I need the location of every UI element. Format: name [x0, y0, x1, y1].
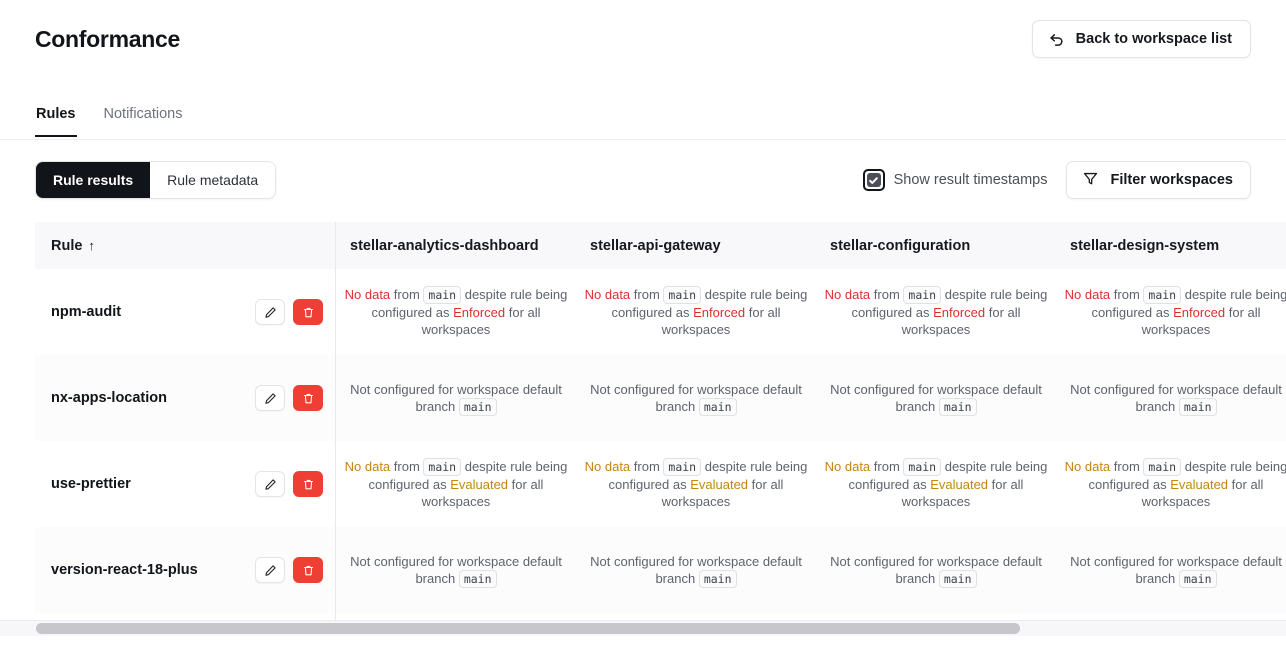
branch-chip: main [1143, 286, 1181, 304]
result-cell: Not configured for workspace default bra… [1056, 527, 1286, 613]
delete-rule-button[interactable] [293, 471, 323, 497]
result-cell-text: No data from main despite rule being con… [344, 286, 568, 338]
result-cell: No data from main despite rule being con… [1056, 441, 1286, 527]
status-badge: Enforced [693, 305, 745, 320]
rule-name: use-prettier [51, 476, 255, 492]
column-header-workspace[interactable]: stellar-api-gateway [576, 222, 816, 269]
filter-workspaces-button[interactable]: Filter workspaces [1066, 161, 1252, 199]
branch-chip: main [423, 458, 461, 476]
workspace-column: stellar-configurationNo data from main d… [816, 222, 1056, 621]
segment-rule-results[interactable]: Rule results [36, 162, 150, 198]
delete-rule-button[interactable] [293, 385, 323, 411]
result-cell: No data from main despite rule being con… [1056, 269, 1286, 355]
edit-rule-button[interactable] [255, 471, 285, 497]
result-cell: Not configured for workspace default bra… [576, 355, 816, 441]
back-arrow-icon [1048, 31, 1065, 48]
row-actions [255, 385, 323, 411]
rule-name: version-react-18-plus [51, 562, 255, 578]
column-header-rule[interactable]: Rule ↑ [35, 222, 335, 269]
back-to-workspace-list-button[interactable]: Back to workspace list [1032, 20, 1251, 58]
result-cell-text: Not configured for workspace default bra… [344, 553, 568, 588]
horizontal-scrollbar-thumb[interactable] [36, 623, 1020, 634]
no-data-label: No data [1065, 459, 1111, 474]
branch-chip: main [663, 286, 701, 304]
branch-chip: main [423, 286, 461, 304]
branch-chip: main [1143, 458, 1181, 476]
filter-funnel-icon [1082, 170, 1099, 191]
filter-button-label: Filter workspaces [1111, 172, 1234, 188]
no-data-label: No data [825, 287, 871, 302]
conformance-page: Conformance Back to workspace list Rules… [0, 0, 1286, 667]
table-row: version-react-18-plus [35, 527, 335, 613]
toolbar-right-group: Show result timestamps Filter workspaces [863, 161, 1251, 199]
result-cell: Not configured for workspace default bra… [1056, 355, 1286, 441]
no-data-label: No data [345, 287, 391, 302]
checkbox-label: Show result timestamps [894, 172, 1048, 188]
row-actions [255, 557, 323, 583]
sort-ascending-icon: ↑ [88, 238, 95, 253]
status-badge: Evaluated [690, 477, 748, 492]
status-badge: Evaluated [450, 477, 508, 492]
footer-spacer [0, 636, 1286, 667]
page-title: Conformance [35, 28, 180, 51]
result-cell: Not configured for workspace default bra… [336, 527, 576, 613]
branch-chip: main [939, 398, 977, 416]
result-cell-text: Not configured for workspace default bra… [824, 381, 1048, 416]
status-badge: Evaluated [930, 477, 988, 492]
rule-name: npm-audit [51, 304, 255, 320]
branch-chip: main [903, 458, 941, 476]
checkbox-focus-ring [863, 169, 885, 191]
result-cell-text: Not configured for workspace default bra… [344, 381, 568, 416]
branch-chip: main [1179, 570, 1217, 588]
result-cell-text: Not configured for workspace default bra… [584, 553, 808, 588]
column-header-workspace[interactable]: stellar-analytics-dashboard [336, 222, 576, 269]
branch-chip: main [903, 286, 941, 304]
result-cell-text: No data from main despite rule being con… [584, 458, 808, 510]
table-row: nx-apps-location [35, 355, 335, 441]
rule-name: nx-apps-location [51, 390, 255, 406]
result-cell-text: No data from main despite rule being con… [1064, 286, 1286, 338]
result-cell: Not configured for workspace default bra… [576, 527, 816, 613]
rule-column: Rule ↑ npm-audit [35, 222, 336, 621]
tab-rules[interactable]: Rules [35, 104, 77, 136]
result-cell: Not configured for workspace default bra… [816, 355, 1056, 441]
tab-bar: Rules Notifications [0, 104, 1286, 140]
edit-rule-button[interactable] [255, 385, 285, 411]
edit-rule-button[interactable] [255, 299, 285, 325]
back-button-label: Back to workspace list [1076, 31, 1232, 47]
result-cell-text: Not configured for workspace default bra… [1064, 381, 1286, 416]
page-header: Conformance Back to workspace list [0, 0, 1286, 78]
checkbox-box-checked [867, 173, 881, 187]
result-cell-text: No data from main despite rule being con… [824, 286, 1048, 338]
branch-chip: main [699, 570, 737, 588]
row-actions [255, 299, 323, 325]
result-cell: No data from main despite rule being con… [336, 269, 576, 355]
branch-chip: main [459, 398, 497, 416]
table-row: use-prettier [35, 441, 335, 527]
status-badge: Enforced [933, 305, 985, 320]
no-data-label: No data [585, 459, 631, 474]
branch-chip: main [459, 570, 497, 588]
result-cell-text: Not configured for workspace default bra… [584, 381, 808, 416]
result-cell: Not configured for workspace default bra… [336, 355, 576, 441]
delete-rule-button[interactable] [293, 299, 323, 325]
row-actions [255, 471, 323, 497]
result-cell-text: No data from main despite rule being con… [824, 458, 1048, 510]
horizontal-scrollbar[interactable] [0, 620, 1286, 636]
result-cell-text: Not configured for workspace default bra… [1064, 553, 1286, 588]
result-cell-text: No data from main despite rule being con… [1064, 458, 1286, 510]
no-data-label: No data [585, 287, 631, 302]
toolbar: Rule results Rule metadata Show result t… [0, 160, 1286, 200]
edit-rule-button[interactable] [255, 557, 285, 583]
no-data-label: No data [1065, 287, 1111, 302]
result-cell: No data from main despite rule being con… [576, 441, 816, 527]
tab-notifications[interactable]: Notifications [103, 104, 184, 136]
workspace-column: stellar-design-systemNo data from main d… [1056, 222, 1286, 621]
result-cell: No data from main despite rule being con… [576, 269, 816, 355]
table-row: npm-audit [35, 269, 335, 355]
branch-chip: main [663, 458, 701, 476]
no-data-label: No data [345, 459, 391, 474]
status-badge: Enforced [1173, 305, 1225, 320]
status-badge: Evaluated [1170, 477, 1228, 492]
branch-chip: main [1179, 398, 1217, 416]
branch-chip: main [699, 398, 737, 416]
branch-chip: main [939, 570, 977, 588]
column-header-workspace[interactable]: stellar-configuration [816, 222, 1056, 269]
show-result-timestamps-checkbox[interactable]: Show result timestamps [863, 169, 1048, 191]
column-header-workspace[interactable]: stellar-design-system [1056, 222, 1286, 269]
result-cell-text: No data from main despite rule being con… [344, 458, 568, 510]
delete-rule-button[interactable] [293, 557, 323, 583]
no-data-label: No data [825, 459, 871, 474]
result-cell: Not configured for workspace default bra… [816, 527, 1056, 613]
result-cell-text: Not configured for workspace default bra… [824, 553, 1048, 588]
workspace-column: stellar-api-gatewayNo data from main des… [576, 222, 816, 621]
result-cell-text: No data from main despite rule being con… [584, 286, 808, 338]
result-cell: No data from main despite rule being con… [336, 441, 576, 527]
segment-rule-metadata[interactable]: Rule metadata [150, 162, 275, 198]
result-cell: No data from main despite rule being con… [816, 441, 1056, 527]
workspace-columns[interactable]: stellar-analytics-dashboardNo data from … [336, 222, 1286, 621]
status-badge: Enforced [453, 305, 505, 320]
column-header-rule-label: Rule [51, 238, 82, 254]
result-cell: No data from main despite rule being con… [816, 269, 1056, 355]
conformance-table: Rule ↑ npm-audit [35, 222, 1286, 621]
view-mode-segmented-control: Rule results Rule metadata [35, 161, 276, 199]
workspace-column: stellar-analytics-dashboardNo data from … [336, 222, 576, 621]
